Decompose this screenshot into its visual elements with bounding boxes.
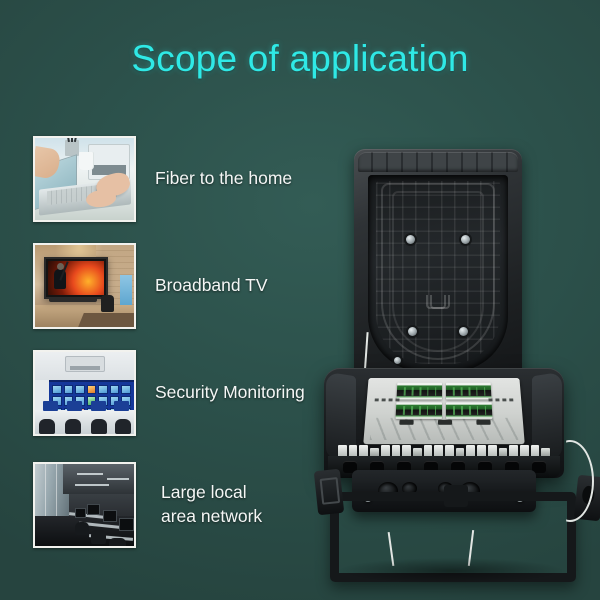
lid-cable-anchor: [394, 357, 401, 364]
tray-marks-left: [375, 398, 400, 401]
application-list: Fiber to the home Broadband TV: [0, 0, 340, 600]
adapter-block: [446, 402, 492, 419]
list-item: Security Monitoring: [33, 350, 305, 436]
list-item-label: Security Monitoring: [155, 381, 305, 405]
lid-screw-boss: [459, 327, 468, 336]
list-item: Broadband TV: [33, 243, 268, 329]
thumbnail-broadband-tv: [33, 243, 136, 329]
list-item-label: Broadband TV: [155, 274, 268, 298]
list-item: Large local area network: [33, 462, 262, 548]
lid-clip-right: [426, 295, 446, 309]
product-shadow: [338, 558, 564, 584]
box-lid: [354, 149, 522, 384]
tray-latch-tabs: [399, 420, 490, 425]
product-image-fiber-distribution-box: [318, 140, 600, 585]
lid-interior: [368, 175, 508, 372]
tray-marks-right: [488, 398, 513, 401]
sc-adapter-array: [396, 383, 493, 419]
box-base: [324, 368, 564, 478]
poster-canvas: Scope of application Fiber to the home: [0, 0, 600, 600]
lid-screw-boss: [408, 327, 417, 336]
list-item-label: Fiber to the home: [155, 167, 292, 191]
lid-inner-arc-secondary: [392, 191, 484, 352]
adapter-block: [397, 383, 443, 399]
list-item-label: Large local area network: [161, 481, 262, 528]
adapter-block: [396, 402, 442, 419]
lid-top-rim: [358, 152, 518, 172]
lid-screw-boss: [406, 235, 415, 244]
thumbnail-large-local-area-network: [33, 462, 136, 548]
fiber-clip-row: [338, 443, 550, 456]
splice-tray: [363, 378, 525, 444]
adapter-block: [446, 383, 492, 399]
bracket-ear-left: [314, 469, 344, 515]
lid-screw-boss: [461, 235, 470, 244]
thumbnail-security-monitoring: [33, 350, 136, 436]
thumbnail-fiber-to-the-home: [33, 136, 136, 222]
list-item: Fiber to the home: [33, 136, 292, 222]
